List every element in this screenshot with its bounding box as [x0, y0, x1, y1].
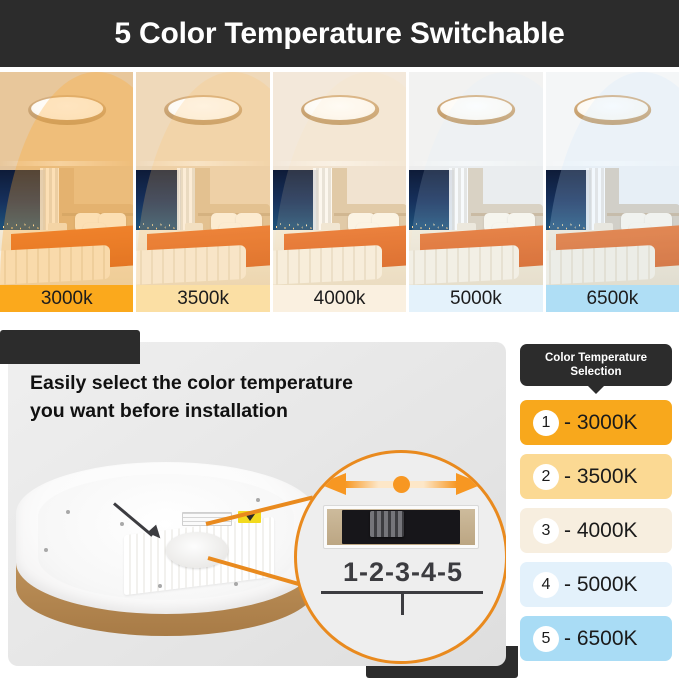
- bedroom-photo: [546, 72, 679, 285]
- ceiling-light-fixture: [16, 462, 316, 642]
- header-banner: 5 Color Temperature Switchable: [0, 0, 679, 67]
- cct-option-label: - 5000K: [564, 573, 638, 597]
- comparison-cell: 5000k: [409, 72, 542, 312]
- quilted-duvet: [409, 245, 519, 285]
- quilted-duvet: [273, 245, 383, 285]
- lamp-diffuser: [168, 97, 240, 120]
- cct-option-row[interactable]: 3- 4000K: [520, 508, 672, 553]
- cct-caption: 3000k: [0, 285, 133, 312]
- cct-caption: 5000k: [409, 285, 542, 312]
- instruction-text: Easily select the color temperature you …: [30, 370, 460, 425]
- panel-tooltip-header: Color Temperature Selection: [520, 344, 672, 386]
- cove-light: [546, 161, 679, 166]
- bedroom-photo: [409, 72, 542, 285]
- bedroom-photo: [0, 72, 133, 285]
- cct-caption: 6500k: [546, 285, 679, 312]
- screw-icon: [234, 582, 238, 586]
- cct-option-label: - 3500K: [564, 465, 638, 489]
- cct-option-row[interactable]: 5- 6500K: [520, 616, 672, 661]
- tooltip-line-1: Color Temperature: [545, 351, 647, 365]
- cove-light: [273, 161, 406, 166]
- screw-icon: [44, 548, 48, 552]
- comparison-cell: 3500k: [136, 72, 269, 312]
- lower-section: Easily select the color temperature you …: [0, 322, 679, 679]
- cove-light: [409, 161, 542, 166]
- cct-caption: 4000k: [273, 285, 406, 312]
- ceiling-lamp: [28, 95, 106, 124]
- corner-bracket-top-left: [0, 330, 140, 364]
- lamp-diffuser: [304, 97, 376, 120]
- ceiling-lamp: [437, 95, 515, 124]
- cove-light: [0, 161, 133, 166]
- comparison-cell: 4000k: [273, 72, 406, 312]
- ceiling-light-photo: [8, 460, 334, 666]
- page-title: 5 Color Temperature Switchable: [114, 17, 564, 51]
- tooltip-pointer-icon: [587, 385, 605, 394]
- cct-option-number: 1: [533, 410, 559, 436]
- lamp-diffuser: [31, 97, 103, 120]
- cove-light: [136, 161, 269, 166]
- instruction-line-2: you want before installation: [30, 398, 460, 426]
- arrow-right-icon: [456, 473, 483, 495]
- instruction-line-1: Easily select the color temperature: [30, 370, 460, 398]
- cct-option-row[interactable]: 4- 5000K: [520, 562, 672, 607]
- cct-option-label: - 6500K: [564, 627, 638, 651]
- product-infographic: 5 Color Temperature Switchable 3000k3500…: [0, 0, 679, 679]
- panel-tooltip-text: Color Temperature Selection: [545, 351, 647, 380]
- cct-option-number: 4: [533, 572, 559, 598]
- ceiling-lamp: [574, 95, 652, 124]
- cct-option-number: 3: [533, 518, 559, 544]
- bedroom-photo: [273, 72, 406, 285]
- switch-knob[interactable]: [370, 511, 404, 537]
- lamp-diffuser: [577, 97, 649, 120]
- instruction-card: Easily select the color temperature you …: [8, 342, 506, 666]
- quilted-duvet: [136, 245, 246, 285]
- color-temperature-selection-panel: Color Temperature Selection 1- 3000K2- 3…: [520, 344, 672, 674]
- lamp-diffuser: [440, 97, 512, 120]
- switch-position-labels: 1-2-3-4-5: [319, 557, 487, 588]
- cct-option-number: 5: [533, 626, 559, 652]
- comparison-cell: 6500k: [546, 72, 679, 312]
- quilted-duvet: [546, 245, 656, 285]
- cct-caption: 3500k: [136, 285, 269, 312]
- tooltip-line-2: Selection: [545, 365, 647, 379]
- bedroom-photo: [136, 72, 269, 285]
- screw-icon: [158, 584, 162, 588]
- slide-direction-indicator: [319, 471, 483, 497]
- quilted-duvet: [0, 245, 110, 285]
- ceiling-lamp: [165, 95, 243, 124]
- cct-option-list: 1- 3000K2- 3500K3- 4000K4- 5000K5- 6500K: [520, 400, 672, 661]
- cct-option-row[interactable]: 1- 3000K: [520, 400, 672, 445]
- color-temperature-comparison-strip: 3000k3500k4000k5000k6500k: [0, 72, 679, 312]
- cct-option-label: - 4000K: [564, 519, 638, 543]
- cct-option-row[interactable]: 2- 3500K: [520, 454, 672, 499]
- arrow-left-icon: [319, 473, 346, 495]
- switch-detail-callout: 1-2-3-4-5: [294, 450, 506, 664]
- switch-pointer-tick: [401, 593, 404, 615]
- screw-icon: [120, 522, 124, 526]
- screw-icon: [66, 510, 70, 514]
- arrow-center-dot: [393, 476, 410, 493]
- cct-option-number: 2: [533, 464, 559, 490]
- cct-option-label: - 3000K: [564, 411, 638, 435]
- ceiling-lamp: [301, 95, 379, 124]
- screw-icon: [256, 498, 260, 502]
- cct-slide-switch[interactable]: [323, 505, 479, 549]
- comparison-cell: 3000k: [0, 72, 133, 312]
